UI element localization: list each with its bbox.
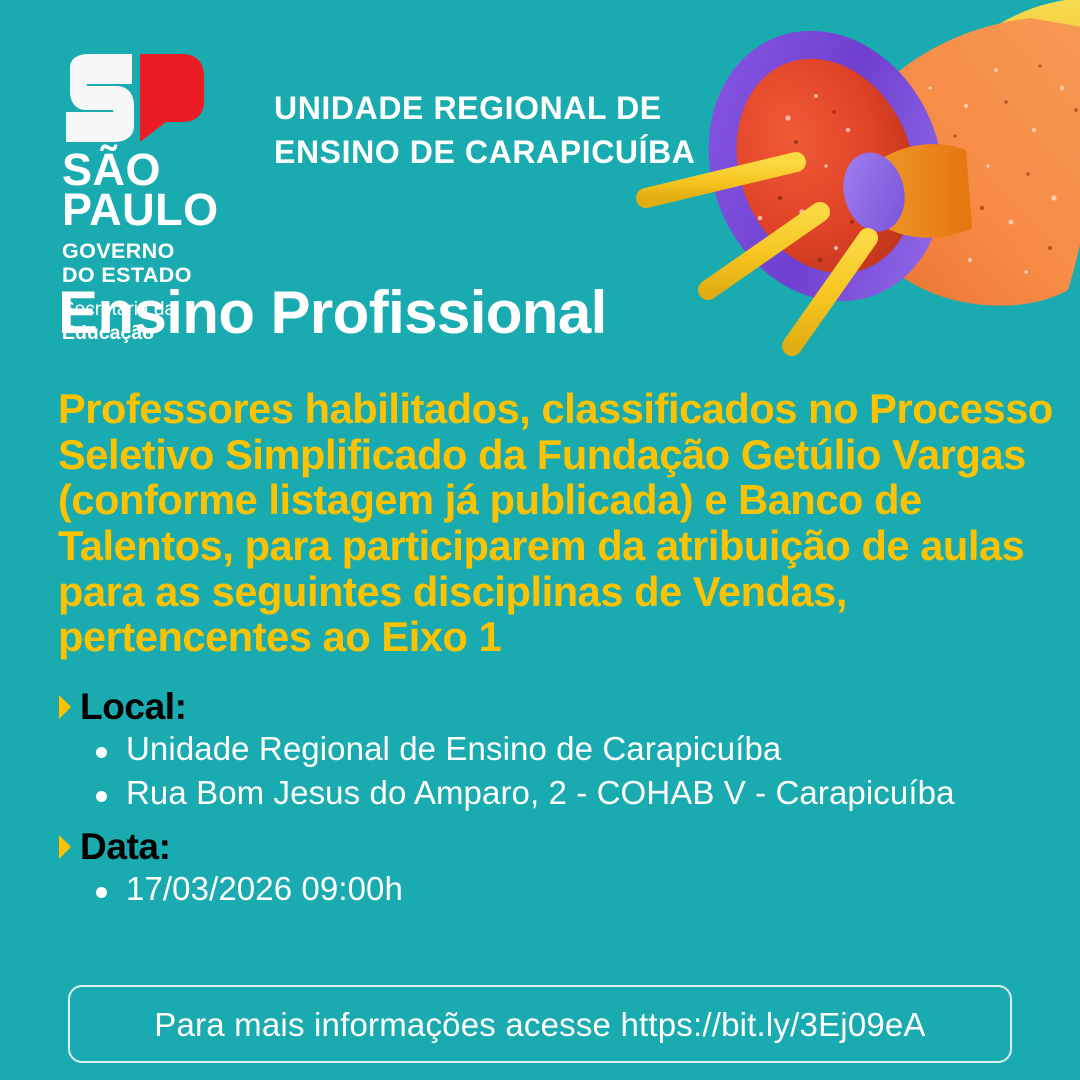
section-data-list: 17/03/2026 09:00h: [58, 867, 1058, 911]
cone-speckles: [758, 94, 872, 250]
header-title-line-2: ENSINO DE CARAPICUÍBA: [274, 130, 696, 174]
megaphone-handle: [982, 0, 1080, 80]
header-title-line-1: UNIDADE REGIONAL DE: [274, 86, 696, 130]
announcement-body: Professores habilitados, classificados n…: [58, 386, 1063, 660]
megaphone-body: [843, 18, 1080, 306]
megaphone-illustration: [630, 0, 1080, 390]
header-title: UNIDADE REGIONAL DE ENSINO DE CARAPICUÍB…: [274, 86, 696, 174]
poster-canvas: SÃO PAULO GOVERNO DO ESTADO Secretaria d…: [0, 0, 1080, 1080]
list-item: 17/03/2026 09:00h: [92, 867, 1058, 911]
list-item: Unidade Regional de Ensino de Carapicuíb…: [92, 727, 1058, 771]
megaphone-mouthpiece: [835, 146, 913, 238]
sp-logo-icon: [62, 52, 208, 144]
chevron-right-icon: [58, 694, 72, 720]
megaphone-throat: [866, 144, 972, 238]
section-data-header: Data:: [58, 828, 1058, 865]
more-info-box[interactable]: Para mais informações acesse https://bit…: [68, 985, 1012, 1063]
list-item: Rua Bom Jesus do Amparo, 2 - COHAB V - C…: [92, 771, 1058, 815]
megaphone-rim: [670, 0, 982, 336]
chevron-right-icon: [58, 834, 72, 860]
logo-line-paulo: PAULO: [62, 190, 214, 230]
section-local-header: Local:: [58, 688, 1058, 725]
section-data-title: Data:: [80, 828, 171, 865]
section-data: Data: 17/03/2026 09:00h: [58, 828, 1058, 911]
more-info-text[interactable]: Para mais informações acesse https://bit…: [154, 1008, 925, 1041]
section-local: Local: Unidade Regional de Ensino de Car…: [58, 688, 1058, 814]
page-title: Ensino Profissional: [58, 283, 607, 343]
section-local-list: Unidade Regional de Ensino de Carapicuíb…: [58, 727, 1058, 814]
section-local-title: Local:: [80, 688, 187, 725]
